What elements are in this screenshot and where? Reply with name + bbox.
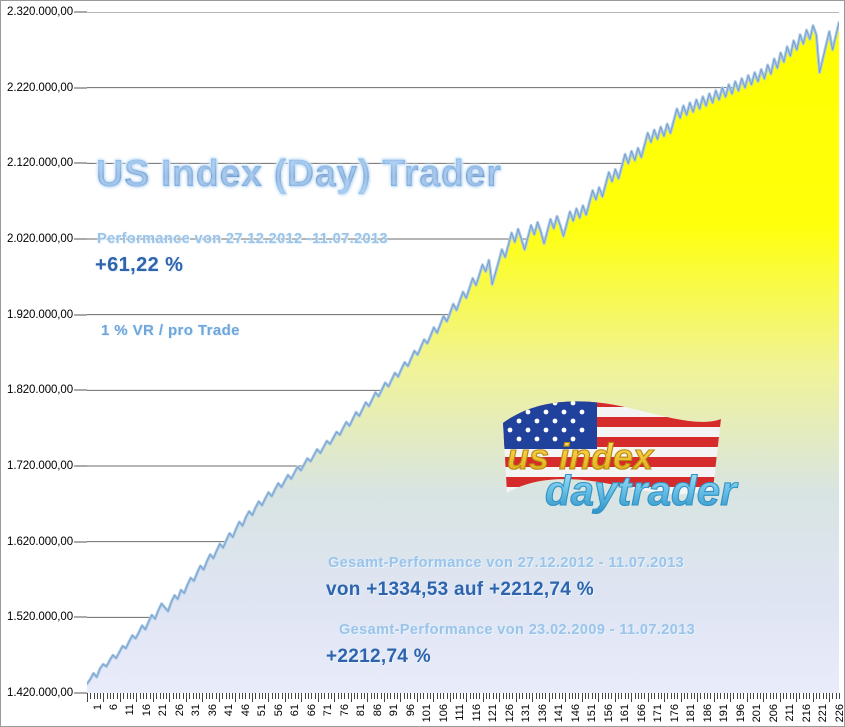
- x-axis-tick-mark: [252, 693, 253, 702]
- y-axis-tick-mark: [74, 466, 87, 467]
- x-axis-tick-mark: [803, 693, 804, 699]
- x-axis-tick-mark: [473, 693, 474, 699]
- x-axis-tick-mark: [443, 693, 444, 699]
- x-axis-tick-mark: [710, 693, 711, 699]
- y-axis-tick-label: 1.420.000,00: [7, 687, 73, 699]
- x-axis-tick-label: 201: [751, 704, 763, 722]
- x-axis-tick-mark: [189, 693, 190, 699]
- x-axis-tick-mark: [120, 693, 121, 702]
- x-axis-tick-mark: [578, 693, 579, 699]
- x-axis-tick-label: 31: [190, 704, 202, 716]
- x-axis-tick-mark: [268, 693, 269, 702]
- x-axis-tick-mark: [707, 693, 708, 699]
- x-axis-tick-mark: [829, 693, 830, 702]
- x-axis-tick-mark: [282, 693, 283, 699]
- y-axis-tick-label: 1.620.000,00: [7, 536, 73, 548]
- x-axis-tick-label: 46: [240, 704, 252, 716]
- x-axis-tick-mark: [644, 693, 645, 699]
- x-axis-tick-mark: [100, 693, 101, 699]
- x-axis-tick-mark: [90, 693, 91, 699]
- x-axis-tick-mark: [595, 693, 596, 699]
- x-axis-tick-mark: [361, 693, 362, 699]
- x-axis-tick-label: 186: [702, 704, 714, 722]
- x-axis-tick-mark: [602, 693, 603, 699]
- x-axis-tick-mark: [529, 693, 530, 699]
- x-axis-tick-mark: [262, 693, 263, 699]
- x-axis-tick-mark: [532, 693, 533, 702]
- x-axis-tick-mark: [839, 693, 840, 699]
- x-axis-tick-label: 81: [355, 704, 367, 716]
- x-axis-tick-mark: [559, 693, 560, 699]
- x-axis-tick-mark: [440, 693, 441, 699]
- x-axis-tick-mark: [776, 693, 777, 699]
- x-axis-tick-mark: [615, 693, 616, 702]
- x-axis-tick-mark: [565, 693, 566, 702]
- x-axis-tick-mark: [720, 693, 721, 699]
- x-axis-tick-mark: [430, 693, 431, 699]
- x-axis-tick-mark: [717, 693, 718, 699]
- x-axis-tick-mark: [549, 693, 550, 702]
- x-axis-tick-mark: [562, 693, 563, 699]
- x-axis-tick-mark: [681, 693, 682, 702]
- x-axis-tick-mark: [318, 693, 319, 702]
- x-axis-tick-mark: [209, 693, 210, 699]
- x-axis-tick-label: 11: [124, 704, 136, 715]
- x-axis-tick-mark: [661, 693, 662, 699]
- x-axis-tick-mark: [143, 693, 144, 699]
- x-axis-tick-mark: [285, 693, 286, 702]
- x-axis-tick-mark: [371, 693, 372, 699]
- x-axis-tick-label: 156: [603, 704, 615, 722]
- y-axis: 2.320.000,002.220.000,002.120.000,002.02…: [1, 1, 87, 693]
- y-axis-tick-label: 2.020.000,00: [7, 233, 73, 245]
- x-axis-tick-mark: [799, 693, 800, 699]
- x-axis-tick-mark: [747, 693, 748, 702]
- x-axis-tick-label: 121: [487, 704, 499, 722]
- x-axis-tick-mark: [384, 693, 385, 702]
- y-axis-tick-mark: [74, 314, 87, 315]
- equity-curve-svg: [87, 12, 839, 693]
- x-axis-tick-mark: [374, 693, 375, 699]
- x-axis-tick-mark: [641, 693, 642, 699]
- x-axis-tick-label: 111: [454, 704, 466, 721]
- x-axis-tick-mark: [658, 693, 659, 699]
- y-axis-tick-label: 1.820.000,00: [7, 384, 73, 396]
- x-axis-tick-label: 221: [817, 704, 829, 722]
- x-axis-tick-label: 61: [289, 704, 301, 716]
- x-axis-tick-label: 106: [438, 704, 450, 722]
- x-axis-tick-label: 91: [388, 704, 400, 716]
- x-axis-tick-mark: [450, 693, 451, 702]
- x-axis-tick-mark: [387, 693, 388, 699]
- x-axis-tick-mark: [506, 693, 507, 699]
- x-axis-tick-mark: [166, 693, 167, 699]
- x-axis-tick-mark: [671, 693, 672, 699]
- x-axis-tick-label: 36: [207, 704, 219, 716]
- x-axis-tick-mark: [447, 693, 448, 699]
- x-axis-tick-mark: [611, 693, 612, 699]
- x-axis-tick-mark: [377, 693, 378, 699]
- x-axis-tick-label: 51: [256, 704, 268, 716]
- x-axis-tick-mark: [476, 693, 477, 699]
- x-axis-tick-mark: [813, 693, 814, 702]
- x-axis-tick-mark: [463, 693, 464, 699]
- x-axis-tick-label: 136: [537, 704, 549, 722]
- x-axis-tick-label: 216: [801, 704, 813, 722]
- x-axis-tick-mark: [259, 693, 260, 699]
- x-axis-tick-label: 26: [174, 704, 186, 716]
- x-axis-tick-mark: [146, 693, 147, 699]
- x-axis-tick-label: 171: [652, 704, 664, 722]
- x-axis-tick-mark: [592, 693, 593, 699]
- x-axis-tick-mark: [516, 693, 517, 702]
- x-axis-tick-label: 21: [157, 704, 169, 716]
- x-axis-tick-mark: [648, 693, 649, 702]
- x-axis-tick-mark: [667, 693, 668, 699]
- x-axis-tick-mark: [489, 693, 490, 699]
- x-axis-tick-mark: [97, 693, 98, 699]
- x-axis-tick-mark: [786, 693, 787, 699]
- x-axis-tick-mark: [819, 693, 820, 699]
- x-axis-tick-mark: [173, 693, 174, 699]
- x-axis-tick-mark: [823, 693, 824, 699]
- x-axis-tick-mark: [222, 693, 223, 699]
- x-axis-tick-mark: [232, 693, 233, 699]
- y-axis-tick-label: 1.720.000,00: [7, 460, 73, 472]
- x-axis-tick-mark: [588, 693, 589, 699]
- x-axis-tick-mark: [239, 693, 240, 699]
- x-axis-tick-mark: [354, 693, 355, 699]
- equity-chart: [87, 12, 839, 693]
- x-axis-tick-mark: [156, 693, 157, 699]
- x-axis-tick-mark: [816, 693, 817, 699]
- x-axis-tick-mark: [460, 693, 461, 699]
- x-axis-tick-mark: [687, 693, 688, 699]
- x-axis-tick-mark: [737, 693, 738, 699]
- x-axis-tick-mark: [212, 693, 213, 699]
- x-axis-tick-mark: [631, 693, 632, 702]
- x-axis-tick-mark: [219, 693, 220, 702]
- x-axis-tick-mark: [684, 693, 685, 699]
- x-axis-tick-mark: [757, 693, 758, 699]
- x-axis-tick-mark: [621, 693, 622, 699]
- x-axis-tick-mark: [509, 693, 510, 699]
- x-axis-tick-mark: [272, 693, 273, 699]
- y-axis-tick-label: 2.320.000,00: [7, 6, 73, 18]
- x-axis-tick-mark: [334, 693, 335, 702]
- x-axis-tick-mark: [348, 693, 349, 699]
- x-axis-tick-mark: [381, 693, 382, 699]
- x-axis-tick-mark: [760, 693, 761, 699]
- x-axis-tick-mark: [773, 693, 774, 699]
- x-axis-tick-mark: [512, 693, 513, 699]
- x-axis-tick-mark: [651, 693, 652, 699]
- y-axis-tick-mark: [74, 693, 87, 694]
- x-axis-tick-label: 71: [322, 704, 334, 716]
- x-axis-tick-mark: [150, 693, 151, 699]
- x-axis-tick-mark: [133, 693, 134, 699]
- x-axis-tick-label: 211: [784, 704, 796, 722]
- x-axis-tick-mark: [87, 693, 88, 702]
- x-axis-tick-mark: [275, 693, 276, 699]
- x-axis-tick-mark: [654, 693, 655, 699]
- y-axis-tick-mark: [74, 239, 87, 240]
- x-axis-tick-mark: [328, 693, 329, 699]
- x-axis-tick-mark: [288, 693, 289, 699]
- x-axis-tick-label: 56: [273, 704, 285, 716]
- x-axis-tick-mark: [453, 693, 454, 699]
- x-axis-tick-mark: [179, 693, 180, 699]
- x-axis-tick-mark: [136, 693, 137, 702]
- x-axis-tick-mark: [536, 693, 537, 699]
- x-axis-tick-mark: [691, 693, 692, 699]
- x-axis-tick-label: 116: [471, 704, 483, 722]
- x-axis-tick-mark: [730, 693, 731, 702]
- x-axis-tick-mark: [493, 693, 494, 699]
- x-axis-tick-mark: [196, 693, 197, 699]
- x-axis-tick-mark: [753, 693, 754, 699]
- y-axis-tick-label: 1.520.000,00: [7, 611, 73, 623]
- x-axis-tick-mark: [199, 693, 200, 699]
- x-axis-tick-mark: [743, 693, 744, 699]
- x-axis-tick-label: 1: [92, 704, 104, 710]
- x-axis-tick-mark: [305, 693, 306, 699]
- x-axis-tick-mark: [169, 693, 170, 702]
- x-axis-tick-mark: [539, 693, 540, 699]
- x-axis-tick-label: 206: [768, 704, 780, 722]
- x-axis: 1611162126313641465156616671768186919610…: [87, 693, 839, 727]
- x-axis-tick-mark: [160, 693, 161, 699]
- x-axis-tick-mark: [479, 693, 480, 699]
- x-axis-tick-mark: [522, 693, 523, 699]
- x-axis-tick-mark: [235, 693, 236, 702]
- x-axis-tick-mark: [542, 693, 543, 699]
- x-axis-tick-mark: [390, 693, 391, 699]
- x-axis-tick-mark: [130, 693, 131, 699]
- x-axis-tick-mark: [163, 693, 164, 699]
- x-axis-tick-mark: [351, 693, 352, 702]
- x-axis-tick-mark: [766, 693, 767, 699]
- x-axis-tick-label: 96: [405, 704, 417, 716]
- x-axis-tick-mark: [545, 693, 546, 699]
- y-axis-tick-mark: [74, 617, 87, 618]
- x-axis-tick-label: 66: [306, 704, 318, 716]
- x-axis-tick-mark: [427, 693, 428, 699]
- x-axis-tick-mark: [697, 693, 698, 702]
- x-axis-tick-mark: [608, 693, 609, 699]
- x-axis-tick-mark: [796, 693, 797, 702]
- x-axis-tick-mark: [414, 693, 415, 699]
- x-axis-tick-mark: [301, 693, 302, 702]
- x-axis-tick-mark: [315, 693, 316, 699]
- x-axis-tick-mark: [206, 693, 207, 699]
- x-axis-tick-mark: [552, 693, 553, 699]
- x-axis-tick-label: 76: [339, 704, 351, 716]
- x-axis-tick-mark: [727, 693, 728, 699]
- x-axis-tick-mark: [265, 693, 266, 699]
- x-axis-tick-mark: [295, 693, 296, 699]
- x-axis-tick-mark: [638, 693, 639, 699]
- x-axis-tick-mark: [123, 693, 124, 699]
- x-axis-tick-mark: [466, 693, 467, 702]
- x-axis-tick-mark: [417, 693, 418, 702]
- x-axis-tick-mark: [486, 693, 487, 699]
- x-axis-tick-mark: [694, 693, 695, 699]
- y-axis-tick-mark: [74, 87, 87, 88]
- x-axis-tick-mark: [397, 693, 398, 699]
- x-axis-tick-mark: [628, 693, 629, 699]
- x-axis-tick-mark: [598, 693, 599, 702]
- x-axis-tick-label: 151: [586, 704, 598, 722]
- x-axis-tick-mark: [127, 693, 128, 699]
- x-axis-tick-mark: [704, 693, 705, 699]
- x-axis-tick-mark: [344, 693, 345, 699]
- x-axis-tick-label: 181: [685, 704, 697, 722]
- x-axis-tick-label: 226: [834, 704, 845, 722]
- x-axis-tick-mark: [575, 693, 576, 699]
- x-axis-tick-mark: [255, 693, 256, 699]
- x-axis-tick-mark: [763, 693, 764, 702]
- x-axis-tick-mark: [780, 693, 781, 702]
- x-axis-tick-label: 101: [421, 704, 433, 722]
- x-axis-tick-mark: [226, 693, 227, 699]
- x-axis-tick-mark: [113, 693, 114, 699]
- x-axis-tick-mark: [321, 693, 322, 699]
- x-axis-tick-label: 6: [108, 704, 120, 710]
- y-axis-tick-mark: [74, 390, 87, 391]
- x-axis-tick-mark: [437, 693, 438, 699]
- x-axis-tick-mark: [625, 693, 626, 699]
- x-axis-tick-mark: [555, 693, 556, 699]
- x-axis-tick-mark: [836, 693, 837, 699]
- x-axis-tick-mark: [410, 693, 411, 699]
- x-axis-tick-mark: [140, 693, 141, 699]
- x-axis-tick-mark: [400, 693, 401, 702]
- x-axis-tick-label: 161: [619, 704, 631, 722]
- x-axis-tick-label: 41: [223, 704, 235, 716]
- x-axis-tick-mark: [338, 693, 339, 699]
- x-axis-tick-mark: [750, 693, 751, 699]
- x-axis-tick-label: 131: [520, 704, 532, 722]
- x-axis-tick-mark: [331, 693, 332, 699]
- x-axis-tick-mark: [94, 693, 95, 699]
- x-axis-tick-mark: [324, 693, 325, 699]
- x-axis-tick-mark: [278, 693, 279, 699]
- x-axis-tick-mark: [519, 693, 520, 699]
- x-axis-tick-label: 191: [718, 704, 730, 722]
- x-axis-tick-mark: [308, 693, 309, 699]
- x-axis-tick-label: 16: [141, 704, 153, 716]
- x-axis-tick-label: 166: [636, 704, 648, 722]
- x-axis-tick-mark: [311, 693, 312, 699]
- y-axis-tick-label: 2.120.000,00: [7, 157, 73, 169]
- x-axis-tick-label: 126: [504, 704, 516, 722]
- x-axis-tick-mark: [700, 693, 701, 699]
- x-axis-tick-mark: [107, 693, 108, 699]
- x-axis-tick-mark: [569, 693, 570, 699]
- x-axis-tick-mark: [783, 693, 784, 699]
- y-axis-tick-mark: [74, 163, 87, 164]
- x-axis-tick-mark: [420, 693, 421, 699]
- x-axis-tick-mark: [483, 693, 484, 702]
- y-axis-tick-label: 1.920.000,00: [7, 309, 73, 321]
- x-axis-tick-mark: [585, 693, 586, 699]
- x-axis-tick-mark: [832, 693, 833, 699]
- x-axis-tick-mark: [229, 693, 230, 699]
- x-axis-tick-mark: [733, 693, 734, 699]
- x-axis-tick-mark: [367, 693, 368, 702]
- x-axis-tick-mark: [674, 693, 675, 699]
- x-axis-tick-mark: [153, 693, 154, 702]
- x-axis-tick-mark: [186, 693, 187, 702]
- x-axis-tick-mark: [298, 693, 299, 699]
- x-axis-tick-mark: [618, 693, 619, 699]
- x-axis-tick-mark: [714, 693, 715, 702]
- x-axis-tick-mark: [176, 693, 177, 699]
- x-axis-tick-mark: [357, 693, 358, 699]
- x-axis-tick-mark: [291, 693, 292, 699]
- x-axis-tick-mark: [826, 693, 827, 699]
- x-axis-tick-label: 141: [553, 704, 565, 722]
- x-axis-tick-mark: [499, 693, 500, 702]
- x-axis-tick-label: 196: [735, 704, 747, 722]
- x-axis-tick-mark: [423, 693, 424, 699]
- x-axis-tick-mark: [740, 693, 741, 699]
- x-axis-tick-mark: [193, 693, 194, 699]
- x-axis-tick-mark: [806, 693, 807, 699]
- x-axis-tick-mark: [790, 693, 791, 699]
- x-axis-tick-mark: [664, 693, 665, 702]
- x-axis-tick-mark: [572, 693, 573, 699]
- x-axis-tick-mark: [470, 693, 471, 699]
- x-axis-tick-mark: [242, 693, 243, 699]
- x-axis-tick-mark: [770, 693, 771, 699]
- x-axis-tick-mark: [496, 693, 497, 699]
- x-axis-tick-mark: [582, 693, 583, 702]
- x-axis-tick-mark: [503, 693, 504, 699]
- x-axis-tick-mark: [364, 693, 365, 699]
- x-axis-tick-mark: [407, 693, 408, 699]
- x-axis-tick-mark: [793, 693, 794, 699]
- x-axis-tick-mark: [216, 693, 217, 699]
- y-axis-tick-mark: [74, 541, 87, 542]
- x-axis-tick-mark: [183, 693, 184, 699]
- x-axis-tick-mark: [249, 693, 250, 699]
- x-axis-tick-label: 176: [669, 704, 681, 722]
- x-axis-tick-mark: [456, 693, 457, 699]
- x-axis-tick-mark: [809, 693, 810, 699]
- x-axis-tick-mark: [103, 693, 104, 702]
- x-axis-tick-mark: [526, 693, 527, 699]
- x-axis-tick-mark: [635, 693, 636, 699]
- x-axis-tick-label: 86: [372, 704, 384, 716]
- chart-screenshot: 2.320.000,002.220.000,002.120.000,002.02…: [0, 0, 845, 727]
- x-axis-tick-mark: [433, 693, 434, 702]
- x-axis-tick-mark: [677, 693, 678, 699]
- x-axis-tick-mark: [404, 693, 405, 699]
- x-axis-tick-label: 146: [570, 704, 582, 722]
- x-axis-tick-mark: [341, 693, 342, 699]
- x-axis-tick-mark: [110, 693, 111, 699]
- y-axis-tick-mark: [74, 12, 87, 13]
- x-axis-tick-mark: [605, 693, 606, 699]
- x-axis-tick-mark: [394, 693, 395, 699]
- area-fill: [87, 23, 839, 693]
- x-axis-tick-mark: [245, 693, 246, 699]
- x-axis-tick-mark: [724, 693, 725, 699]
- x-axis-tick-mark: [202, 693, 203, 702]
- x-axis-tick-mark: [117, 693, 118, 699]
